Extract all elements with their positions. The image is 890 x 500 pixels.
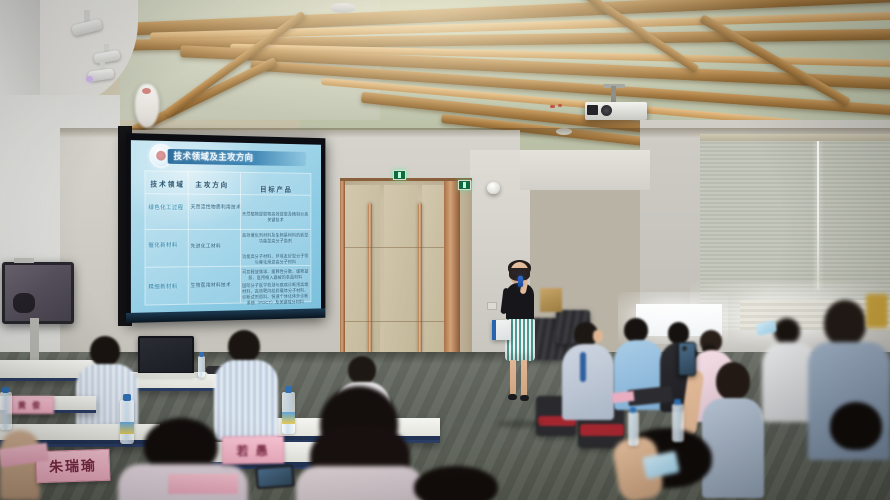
presenter bbox=[496, 262, 544, 422]
name-card-text: 若 愚 bbox=[236, 441, 270, 459]
table-cell-products: 可控释放微球、缓释性分散、缓释凝胶、医用植入器械的表面材料 bbox=[241, 269, 310, 281]
exit-sign-icon bbox=[458, 180, 471, 190]
door-seam bbox=[344, 321, 444, 322]
table-header-field: 技术领域 bbox=[150, 179, 185, 189]
microphone[interactable] bbox=[518, 276, 523, 287]
tablet-screen bbox=[257, 467, 292, 487]
presenter-leg bbox=[510, 360, 516, 396]
table-cell-field: 催化新材料 bbox=[148, 241, 177, 249]
audience-head bbox=[90, 336, 120, 366]
monitor-top-bar bbox=[14, 258, 34, 263]
blind-light-gap bbox=[817, 140, 819, 290]
table-column-divider bbox=[188, 172, 189, 304]
table-cell-field: 绿色化工过程 bbox=[148, 203, 183, 211]
glasses-icon bbox=[512, 271, 527, 275]
table-cell-direction: 天然活性物质利用技术 bbox=[191, 203, 241, 210]
ceiling-projector bbox=[585, 98, 647, 120]
table-cell-products: 功能高分子材料、环境友好型分子筛与催化用途高分子材料 bbox=[241, 254, 310, 266]
table-header-direction: 主攻方向 bbox=[195, 180, 229, 190]
audience-head bbox=[228, 330, 260, 362]
blind-headrail bbox=[700, 134, 890, 141]
presenter-shoe bbox=[520, 395, 529, 401]
bottle-cap bbox=[630, 407, 636, 413]
bottle-cap bbox=[199, 352, 204, 357]
audience-member bbox=[560, 322, 616, 432]
exit-pictogram bbox=[398, 172, 401, 178]
audience-head bbox=[716, 362, 750, 400]
conference-doors[interactable] bbox=[340, 178, 472, 381]
phone-camera-icon bbox=[682, 346, 687, 351]
slide-title: 技术领域及主攻方向 bbox=[173, 150, 302, 165]
table-cell-field: 精细新材料 bbox=[148, 282, 177, 290]
door-panel[interactable] bbox=[384, 185, 418, 377]
laptop-base bbox=[132, 373, 202, 378]
monitor-stand bbox=[30, 318, 39, 362]
water-bottle[interactable] bbox=[0, 392, 12, 430]
monitor-image-silhouette bbox=[13, 293, 35, 313]
audience-member bbox=[826, 402, 890, 500]
projector-vent bbox=[587, 105, 598, 115]
presentation-slide: 技术领域及主攻方向 技术领域 主攻方向 目标产品 绿色化工过程 天然活性物质利用… bbox=[131, 140, 321, 313]
slide-table: 技术领域 主攻方向 目标产品 绿色化工过程 天然活性物质利用技术 天然植物提取物… bbox=[145, 170, 312, 305]
bottle-cap bbox=[285, 386, 292, 393]
indicator-light bbox=[558, 104, 562, 107]
audience-head bbox=[414, 466, 498, 500]
door-frame bbox=[340, 181, 345, 377]
spotlight-lamp bbox=[86, 76, 93, 82]
water-bottle[interactable] bbox=[282, 392, 295, 434]
name-card: 若 愚 bbox=[222, 435, 284, 464]
water-bottle[interactable] bbox=[628, 412, 639, 446]
audience-torso bbox=[562, 344, 614, 420]
projector-lens-icon bbox=[601, 105, 612, 116]
table-cell-products: 高效催化剂材料及生物基材料的新型功能型高分子助剂 bbox=[241, 233, 310, 245]
water-bottle[interactable] bbox=[672, 404, 684, 442]
table-row-divider bbox=[146, 265, 311, 268]
name-card-text: 朱瑞瑜 bbox=[49, 455, 98, 477]
door-handle[interactable] bbox=[368, 203, 372, 353]
audience-member bbox=[614, 318, 666, 422]
name-card-blank bbox=[168, 474, 238, 494]
door-seam bbox=[344, 247, 444, 248]
door-panel[interactable] bbox=[344, 185, 380, 377]
name-card-text: 黄 俊 bbox=[18, 400, 42, 411]
audience-head bbox=[824, 300, 866, 346]
table-cell-direction: 生物医用材料技术 bbox=[191, 281, 231, 288]
bottle-label bbox=[282, 412, 295, 424]
exit-pictogram bbox=[463, 182, 466, 188]
table-header-products: 目标产品 bbox=[260, 185, 292, 195]
audience-face bbox=[593, 330, 603, 342]
ceiling-speaker-icon bbox=[330, 3, 356, 13]
door-handle[interactable] bbox=[418, 203, 422, 353]
audience-head bbox=[624, 318, 648, 342]
audience-head bbox=[668, 322, 689, 344]
name-card: 黄 俊 bbox=[6, 396, 54, 414]
projection-screen: 技术领域及主攻方向 技术领域 主攻方向 目标产品 绿色化工过程 天然活性物质利用… bbox=[126, 133, 325, 323]
audience-member-front bbox=[404, 466, 524, 500]
water-bottle[interactable] bbox=[120, 400, 134, 444]
laptop-screen bbox=[140, 338, 192, 372]
bottle-cap bbox=[2, 387, 9, 393]
bottle-cap bbox=[123, 394, 131, 401]
audience-head bbox=[774, 318, 800, 344]
presenter-shadow bbox=[498, 420, 542, 428]
smartphone[interactable] bbox=[678, 342, 696, 376]
water-bottle bbox=[198, 356, 205, 378]
presenter-shoe bbox=[508, 394, 517, 400]
monitor-screen bbox=[5, 265, 71, 321]
photo-scene: 技术领域及主攻方向 技术领域 主攻方向 目标产品 绿色化工过程 天然活性物质利用… bbox=[0, 0, 890, 500]
door-panel[interactable] bbox=[422, 185, 444, 377]
table-cell-products: 国际分子医学检测与疾病诊断用高端材料、高效靶向给药载体分子材料、诊断试剂原料、快… bbox=[241, 282, 310, 306]
bottle-cap bbox=[674, 399, 681, 405]
wall-socket bbox=[487, 302, 497, 310]
table-row-divider bbox=[146, 229, 311, 230]
bottle-label bbox=[120, 422, 134, 434]
presenter-leg bbox=[521, 360, 527, 396]
lanyard bbox=[580, 352, 586, 382]
exit-sign-icon bbox=[393, 170, 406, 180]
fixture-accent bbox=[142, 88, 151, 94]
indicator-light bbox=[550, 105, 555, 108]
door-frame bbox=[444, 181, 460, 377]
laptop[interactable] bbox=[138, 336, 194, 374]
projector-mount-rod bbox=[611, 86, 616, 102]
handheld-object bbox=[866, 294, 888, 328]
tote-bag bbox=[492, 320, 511, 340]
wall-upper-back bbox=[520, 150, 650, 190]
dome-camera-icon bbox=[487, 182, 500, 194]
audience-head bbox=[830, 402, 882, 450]
table-cell-products: 天然植物提取物高效提取及精制分离关键技术 bbox=[241, 212, 310, 224]
table-cell-direction: 先进化工材料 bbox=[191, 243, 221, 250]
audience-head bbox=[348, 356, 376, 384]
wall-monitor bbox=[2, 262, 74, 324]
